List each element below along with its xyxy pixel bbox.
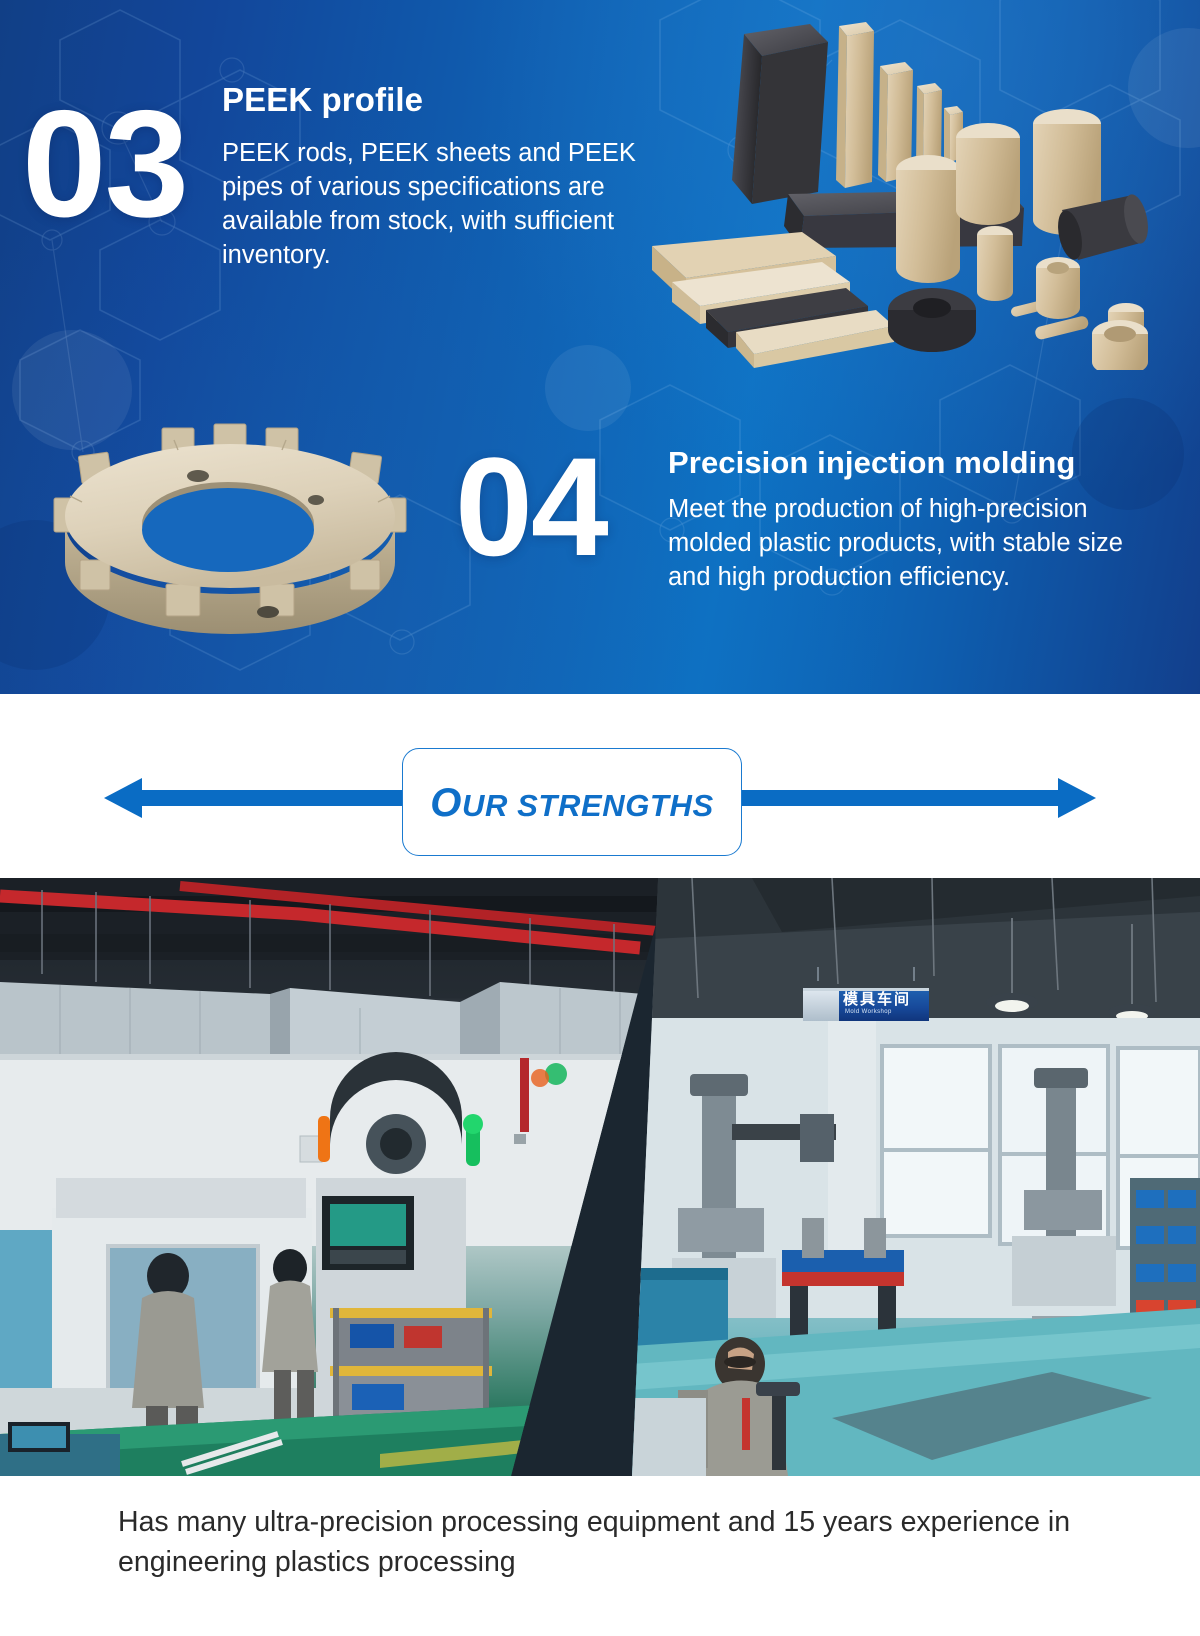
peek-gear-ring-image [30,388,430,656]
tan-tube-1 [1036,257,1080,319]
sign-text-cn: 模具车间 [843,992,911,1007]
tan-cylinder-small [977,226,1013,301]
bottom-caption: Has many ultra-precision processing equi… [0,1476,1200,1636]
workshop-photo-pair: 模具车间 Mold Workshop [0,878,1200,1476]
tan-tube-3 [1092,320,1148,370]
item-body-03: PEEK rods, PEEK sheets and PEEK pipes of… [222,137,652,273]
peek-products-image [610,10,1190,370]
item-block-04: Precision injection molding Meet the pro… [668,446,1143,595]
product-marketing-page: 03 PEEK profile PEEK rods, PEEK sheets a… [0,0,1200,1636]
item-number-04: 04 [455,437,607,577]
hero-panel: 03 PEEK profile PEEK rods, PEEK sheets a… [0,0,1200,694]
tan-cylinder-1 [896,155,960,283]
caption-text: Has many ultra-precision processing equi… [118,1502,1082,1583]
our-strengths-text: OUR STRENGTHS [430,781,713,826]
item-block-03: PEEK profile PEEK rods, PEEK sheets and … [222,82,652,273]
mold-workshop-sign: 模具车间 Mold Workshop [803,981,929,1023]
item-body-04: Meet the production of high-precision mo… [668,493,1143,595]
black-block-large [732,24,828,204]
item-number-03: 03 [22,88,187,240]
tan-sheets-stack [652,232,894,368]
sign-text-en: Mold Workshop [845,1009,892,1015]
item-title-03: PEEK profile [222,82,652,118]
our-strengths-initial: O [430,781,462,825]
photo-cnc-workshop [0,878,668,1476]
photo-mold-workshop: 模具车间 Mold Workshop [632,878,1200,1476]
item-title-04: Precision injection molding [668,446,1143,480]
tan-cylinder-2 [956,123,1020,225]
black-ring [888,288,976,352]
our-strengths-rest: UR STRENGTHS [462,788,714,823]
our-strengths-label: OUR STRENGTHS [402,748,742,856]
